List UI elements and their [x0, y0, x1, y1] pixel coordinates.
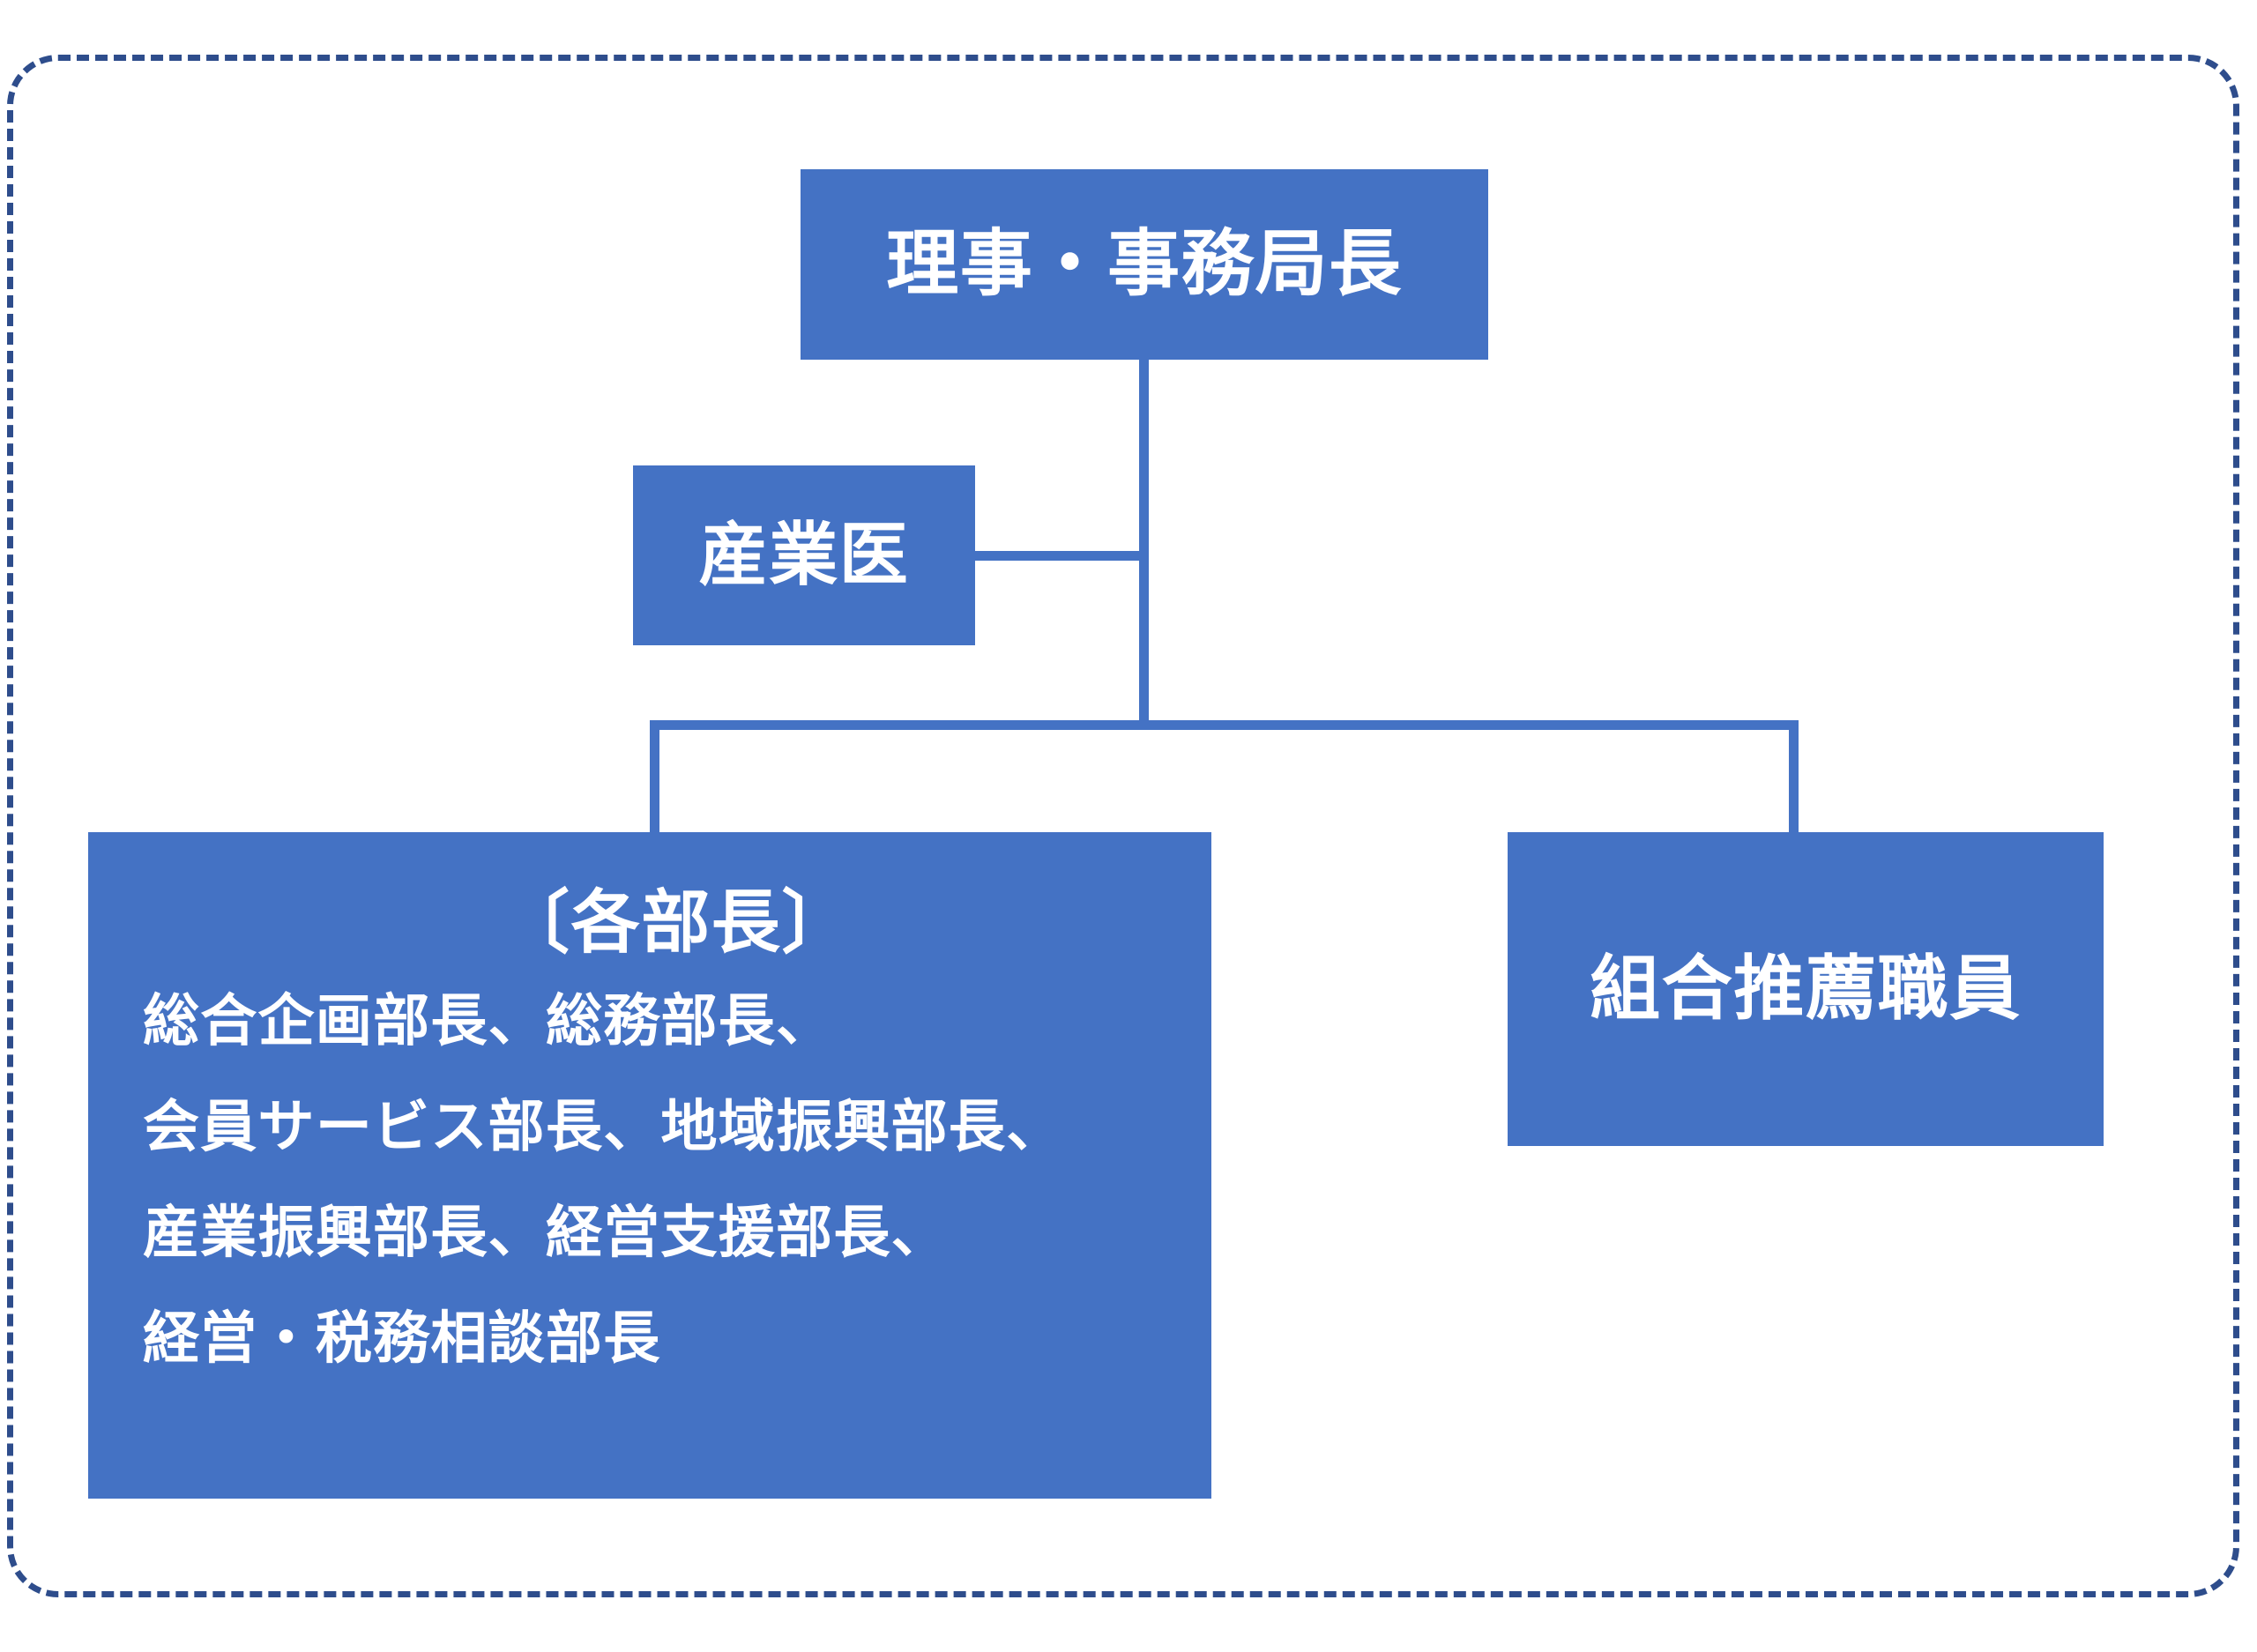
- connector-director-vertical: [1139, 360, 1149, 730]
- node-director[interactable]: 理事・事務局長: [801, 169, 1488, 360]
- node-department-heads[interactable]: 〔各部長〕 総合企画部長、総務部長、 会員サービス部長、地域振興部長、 産業振興…: [88, 832, 1211, 1499]
- connector-physician-horizontal: [975, 551, 1144, 561]
- department-heads-line: 産業振興部長、経営支援部長、: [143, 1204, 1211, 1261]
- department-heads-line: 経営・税務相談部長: [143, 1310, 1211, 1366]
- department-heads-line: 会員サービス部長、地域振興部長、: [143, 1098, 1211, 1155]
- node-occupational-physician[interactable]: 産業医: [633, 465, 975, 645]
- connector-split-horizontal-bar: [650, 720, 1799, 730]
- node-director-label: 理事・事務局長: [886, 220, 1402, 310]
- node-union-recommended-staff-label: 組合推薦職員: [1590, 945, 2022, 1033]
- node-union-recommended-staff[interactable]: 組合推薦職員: [1508, 832, 2104, 1146]
- connector-drop-to-union-staff: [1789, 720, 1799, 837]
- department-heads-line: 総合企画部長、総務部長、: [143, 993, 1211, 1049]
- node-department-heads-list: 総合企画部長、総務部長、 会員サービス部長、地域振興部長、 産業振興部長、経営支…: [88, 993, 1211, 1366]
- node-department-heads-heading: 〔各部長〕: [88, 880, 1211, 966]
- org-chart-canvas: 理事・事務局長 産業医 〔各部長〕 総合企画部長、総務部長、 会員サービス部長、…: [0, 0, 2257, 1652]
- node-occupational-physician-label: 産業医: [699, 512, 910, 599]
- connector-drop-to-department-heads: [650, 720, 659, 837]
